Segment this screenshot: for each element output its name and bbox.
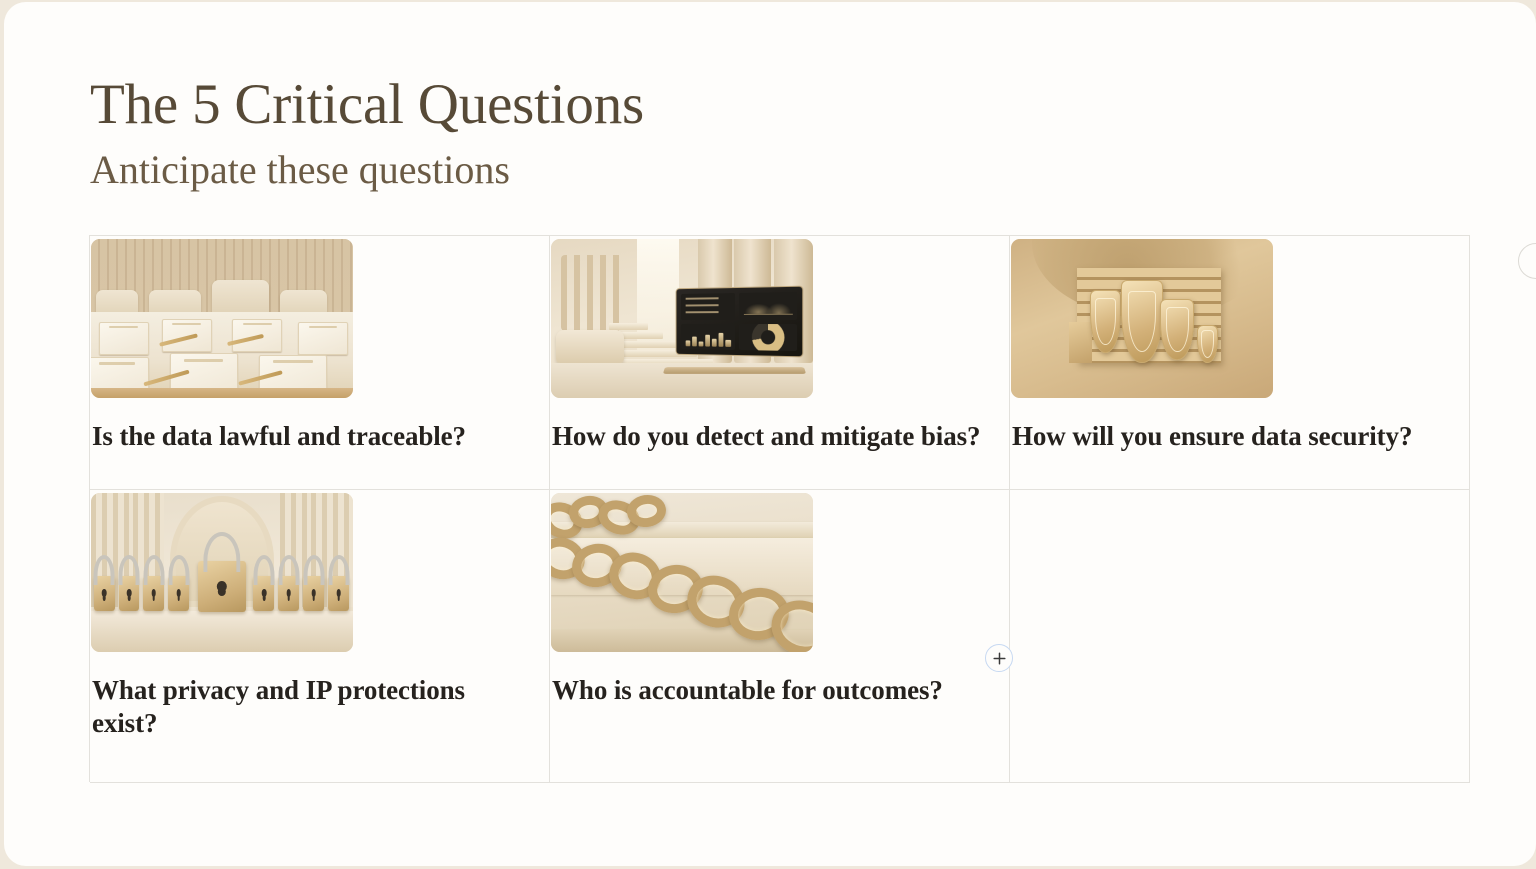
page-title: The 5 Critical Questions — [90, 76, 1290, 133]
slide-header: The 5 Critical Questions Anticipate thes… — [90, 76, 1290, 191]
card-image-row-of-brass-padlocks — [91, 493, 353, 652]
plus-icon — [993, 652, 1006, 665]
card-title: What privacy and IP protections exist? — [90, 652, 549, 740]
edge-handle-circle[interactable] — [1518, 243, 1536, 279]
question-card-5[interactable]: Who is accountable for outcomes? — [550, 490, 1010, 783]
card-image-golden-shields-wall — [1011, 239, 1273, 398]
add-card-button[interactable] — [985, 644, 1013, 672]
question-card-2[interactable]: How do you detect and mitigate bias? — [550, 236, 1010, 490]
card-image-boardroom-table-with-documents — [91, 239, 353, 398]
slide-canvas: The 5 Critical Questions Anticipate thes… — [4, 2, 1536, 866]
question-card-1[interactable]: Is the data lawful and traceable? — [90, 236, 550, 490]
empty-grid-cell[interactable] — [1010, 490, 1470, 783]
card-title: How do you detect and mitigate bias? — [550, 398, 1009, 453]
card-title: Who is accountable for outcomes? — [550, 652, 1009, 707]
card-title: How will you ensure data security? — [1010, 398, 1469, 453]
card-image-golden-chain-links-on-steps — [551, 493, 813, 652]
question-card-3[interactable]: How will you ensure data security? — [1010, 236, 1470, 490]
question-card-4[interactable]: What privacy and IP protections exist? — [90, 490, 550, 783]
question-card-grid: Is the data lawful and traceable? — [89, 235, 1470, 782]
card-title: Is the data lawful and traceable? — [90, 398, 549, 453]
page-subtitle: Anticipate these questions — [90, 149, 1290, 191]
card-image-laptop-analytics-dashboard-in-atrium — [551, 239, 813, 398]
